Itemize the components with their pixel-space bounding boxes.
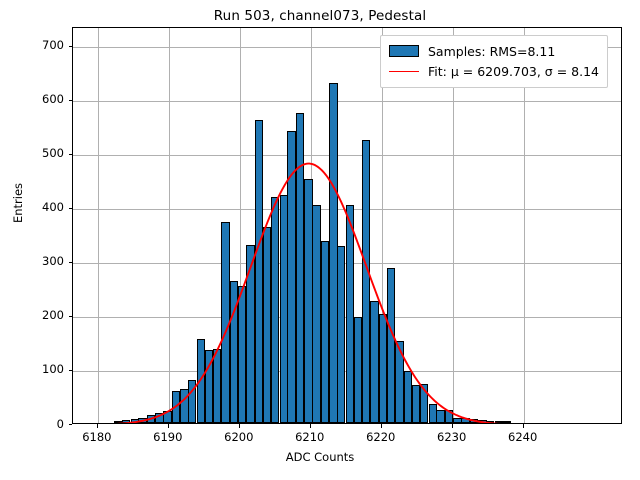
y-axis-tick-label: 700 <box>14 38 64 52</box>
x-axis-tick-label: 6220 <box>351 430 411 444</box>
chart-legend: Samples: RMS=8.11 Fit: μ = 6209.703, σ =… <box>380 35 608 88</box>
y-axis-tick <box>69 316 73 317</box>
y-axis-tick <box>69 262 73 263</box>
y-axis-tick <box>69 100 73 101</box>
y-axis-tick <box>69 370 73 371</box>
y-axis-tick-label: 100 <box>14 362 64 376</box>
x-axis-tick-label: 6180 <box>67 430 127 444</box>
x-axis-title: ADC Counts <box>0 450 640 464</box>
legend-item-fit: Fit: μ = 6209.703, σ = 8.14 <box>389 61 599 81</box>
legend-label-samples: Samples: RMS=8.11 <box>428 44 555 59</box>
y-axis-tick-label: 200 <box>14 308 64 322</box>
x-axis-tick-label: 6240 <box>493 430 553 444</box>
x-axis-tick-label: 6210 <box>280 430 340 444</box>
y-axis-tick <box>69 424 73 425</box>
legend-item-samples: Samples: RMS=8.11 <box>389 41 599 61</box>
x-axis-tick-label: 6230 <box>422 430 482 444</box>
y-axis-tick <box>69 46 73 47</box>
x-axis-tick <box>310 424 311 428</box>
legend-line-icon <box>389 71 419 72</box>
x-axis-tick <box>381 424 382 428</box>
legend-label-fit: Fit: μ = 6209.703, σ = 8.14 <box>428 64 599 79</box>
y-axis-tick <box>69 208 73 209</box>
x-axis-tick-label: 6200 <box>209 430 269 444</box>
chart-figure: Run 503, channel073, Pedestal 6180619062… <box>0 0 640 480</box>
x-axis-tick <box>97 424 98 428</box>
y-axis-title: Entries <box>11 103 25 303</box>
x-axis-tick <box>523 424 524 428</box>
chart-title: Run 503, channel073, Pedestal <box>0 8 640 24</box>
x-axis-tick-label: 6190 <box>138 430 198 444</box>
y-axis-tick-label: 0 <box>14 417 64 431</box>
legend-swatch-icon <box>389 45 419 57</box>
y-axis-tick <box>69 154 73 155</box>
x-axis-tick <box>452 424 453 428</box>
x-axis-tick <box>239 424 240 428</box>
x-axis-tick <box>168 424 169 428</box>
